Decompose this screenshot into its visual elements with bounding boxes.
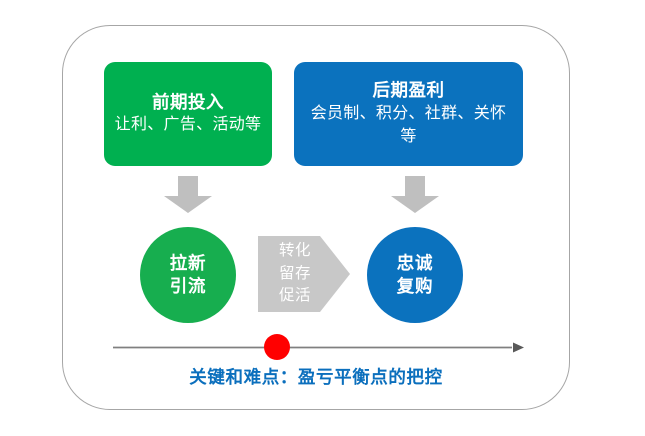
box-early-investment-title: 前期投入 [152,91,224,115]
box-later-profit-subtitle: 会员制、积分、社群、关怀等 [304,103,513,148]
circle-loyalty[interactable]: 忠诚 复购 [367,227,463,323]
down-arrow-icon [389,176,441,214]
box-later-profit[interactable]: 后期盈利 会员制、积分、社群、关怀等 [294,62,523,166]
chevron-conversion[interactable]: 转化 留存 促活 [258,236,350,312]
timeline-arrow-icon [110,334,530,362]
circle-loyalty-line1: 忠诚 [397,252,434,275]
circle-acquire-line1: 拉新 [170,252,207,275]
box-early-investment[interactable]: 前期投入 让利、广告、活动等 [104,62,272,166]
chevron-right-icon [258,236,350,312]
caption-key-difficulty: 关键和难点：盈亏平衡点的把控 [62,366,570,389]
box-early-investment-subtitle: 让利、广告、活动等 [115,114,262,137]
diagram-canvas: 前期投入 让利、广告、活动等 后期盈利 会员制、积分、社群、关怀等 拉新 引流 … [0,0,645,436]
breakeven-point-marker[interactable] [264,334,290,360]
circle-acquire[interactable]: 拉新 引流 [140,227,236,323]
box-later-profit-title: 后期盈利 [373,79,445,103]
down-arrow-icon [162,176,214,214]
circle-acquire-line2: 引流 [170,275,207,298]
circle-loyalty-line2: 复购 [397,275,434,298]
